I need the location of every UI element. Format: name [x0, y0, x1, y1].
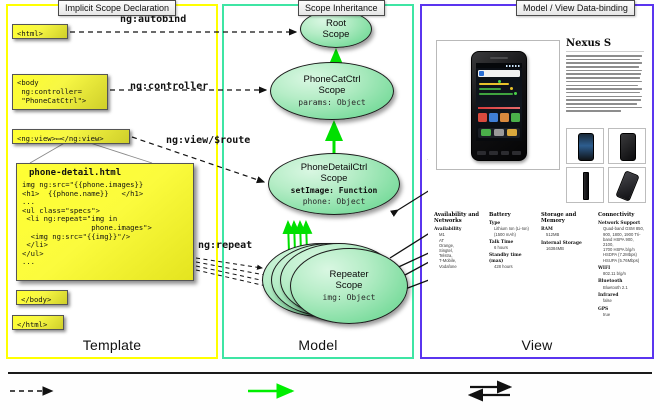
label-ng-controller: ng:controller	[130, 81, 208, 92]
code-box-ng-view: <ng:view>▭</ng:view>	[12, 129, 130, 144]
phone-button-home	[512, 151, 521, 155]
legend-label-implicit-scope-declaration: Implicit Scope Declaration	[58, 0, 176, 16]
label-ng-view-route: ng:view/$route	[166, 135, 250, 146]
scope-root-name-1: Root	[326, 18, 346, 29]
scope-repeater-name-2: Scope	[336, 280, 363, 291]
angular-scope-diagram: Template Model View	[0, 0, 660, 420]
phone-accent-bar	[478, 107, 520, 109]
view-thumbnail-4[interactable]	[608, 167, 646, 203]
specs-value: 512MB	[541, 232, 595, 237]
scope-phonedetailctrl-name-1: PhoneDetailCtrl	[301, 162, 368, 173]
specs-column-battery: Battery Type Lithium Ion (Li-Ion) (1500 …	[489, 212, 537, 269]
view-specs-table: Availability and Networks Availability M…	[434, 212, 642, 322]
specs-header-storage: Storage and Memory	[541, 212, 595, 224]
scope-phonedetailctrl-prop-setimage: setImage: Function	[291, 186, 378, 196]
phone-app-icon-3	[500, 113, 509, 122]
phone-app-icon-4	[511, 113, 520, 122]
panel-view-label: View	[422, 337, 652, 353]
view-thumbnail-1[interactable]	[566, 128, 604, 164]
specs-value: HSUPA (5.76Mbps)	[598, 258, 644, 263]
legend-label-scope-inheritance: Scope Inheritance	[298, 0, 385, 16]
thumbnail-phone-angled	[615, 170, 639, 202]
phone-dock-icon-2	[494, 129, 504, 136]
specs-value: Quad-band GSM 850,	[598, 226, 644, 231]
thumbnail-phone-side	[583, 172, 589, 200]
phone-status-icons	[506, 65, 520, 67]
phone-wallpaper-dot-1	[498, 80, 501, 83]
specs-value: true	[598, 312, 644, 317]
scope-repeater-prop-img: img: Object	[323, 293, 376, 303]
scope-phonedetailctrl-prop-phone: phone: Object	[303, 197, 366, 207]
phone-app-icon-1	[478, 113, 487, 122]
phone-button-search	[501, 151, 510, 155]
phone-wallpaper-dot-3	[514, 92, 517, 95]
phone-dock-icon-1	[481, 129, 491, 136]
specs-column-connectivity: Connectivity Network Support Quad-band G…	[598, 212, 644, 317]
rendered-view-page: Nexus S Availability and Networks Availa…	[428, 12, 646, 332]
phone-speaker	[490, 57, 508, 59]
scope-repeater-name-1: Repeater	[329, 269, 368, 280]
legend-label-model-view-data-binding: Model / View Data-binding	[516, 0, 635, 16]
panel-model-label: Model	[224, 337, 412, 353]
phone-wallpaper-dot-2	[510, 87, 513, 90]
phone-status-bar	[476, 63, 522, 68]
legend-divider	[8, 372, 652, 374]
panel-template-label: Template	[8, 337, 216, 353]
phone-button-back	[477, 151, 486, 155]
phone-wallpaper-line-2	[479, 88, 501, 90]
view-phone-description	[566, 55, 642, 121]
specs-value: 6 hours	[489, 245, 537, 250]
specs-column-storage: Storage and Memory RAM 512MB Internal St…	[541, 212, 595, 251]
phone-wallpaper-line-1	[479, 83, 509, 85]
specs-label-standby: Standby time (max)	[489, 253, 537, 264]
scope-phonecatctrl-name-1: PhoneCatCtrl	[303, 74, 360, 85]
scope-phonedetailctrl: PhoneDetailCtrl Scope setImage: Function…	[268, 153, 400, 215]
view-title-rule	[566, 51, 644, 52]
specs-value: Bluetooth 2.1	[598, 285, 644, 290]
scope-repeater-stack: Repeater Scope img: Object	[262, 243, 408, 327]
specs-value: 16384MB	[541, 246, 595, 251]
phone-app-icon-2	[489, 113, 498, 122]
label-ng-repeat: ng:repeat	[198, 240, 252, 251]
scope-phonedetailctrl-name-2: Scope	[321, 173, 348, 184]
view-thumbnail-3[interactable]	[566, 167, 604, 203]
phone-button-menu	[489, 151, 498, 155]
callout-title: phone-detail.html	[22, 167, 188, 181]
scope-repeater: Repeater Scope img: Object	[290, 248, 408, 324]
specs-value: 802.11 b/g/n	[598, 271, 644, 276]
callout-code: img ng:src="{{phone.images}} <h1> {{phon…	[22, 181, 188, 267]
scope-root-name-2: Scope	[323, 29, 350, 40]
specs-value: band HSPA 900, 2100,	[598, 237, 644, 247]
callout-phone-detail-html: phone-detail.html img ng:src="{{phone.im…	[16, 163, 194, 281]
specs-value: false	[598, 298, 644, 303]
specs-header-connectivity: Connectivity	[598, 212, 644, 218]
code-box-body-open: <body ng:controller= "PhoneCatCtrl">	[12, 74, 108, 110]
phone-dock-icon-3	[507, 129, 517, 136]
view-thumbnail-2[interactable]	[608, 128, 646, 164]
phone-device-illustration	[471, 51, 527, 161]
code-box-body-close: </body>	[16, 290, 68, 305]
phone-dock	[478, 128, 520, 138]
phone-capacitive-buttons	[477, 151, 521, 156]
phone-wallpaper-line-3	[479, 93, 513, 95]
specs-header-battery: Battery	[489, 212, 537, 218]
phone-hero-image-frame	[436, 40, 560, 170]
specs-value: (1500 mAh)	[489, 232, 537, 237]
specs-header-availability: Availability and Networks	[434, 212, 482, 224]
thumbnail-phone-back	[620, 133, 636, 161]
phone-search-widget	[478, 70, 520, 77]
view-thumbnail-grid	[566, 128, 646, 202]
specs-value: 428 hours	[489, 264, 537, 269]
code-box-html-open: <html>	[12, 24, 68, 39]
code-box-html-close: </html>	[12, 315, 64, 330]
thumbnail-phone-front	[578, 133, 594, 161]
scope-phonecatctrl: PhoneCatCtrl Scope params: Object	[270, 62, 394, 120]
phone-screen	[476, 63, 522, 141]
specs-column-availability: Availability and Networks Availability M…	[434, 212, 482, 269]
view-phone-title: Nexus S	[566, 38, 611, 49]
specs-value: Vodafone	[434, 264, 482, 269]
scope-phonecatctrl-name-2: Scope	[319, 85, 346, 96]
phone-app-icon-row	[478, 113, 520, 125]
scope-phonecatctrl-prop-params: params: Object	[298, 98, 365, 108]
